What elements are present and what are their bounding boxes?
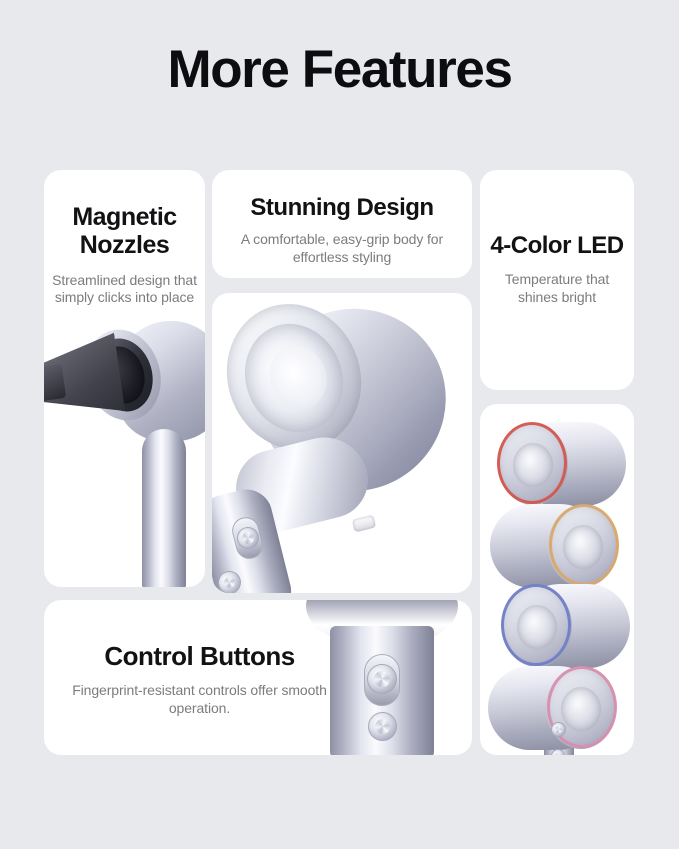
hair-dryer-hero-image (212, 293, 472, 593)
stunning-design-subtitle: A comfortable, easy-grip body for effort… (212, 221, 472, 267)
magnetic-nozzles-title: Magnetic Nozzles (44, 170, 205, 260)
led-color-stack-image (480, 404, 634, 755)
led-unit-red (498, 422, 626, 506)
magnetic-nozzle-product-image (44, 305, 205, 587)
dryer-handle-shape (142, 429, 186, 587)
power-button-icon (367, 664, 397, 694)
led-ring-blue (501, 584, 571, 666)
led-unit-pink (488, 666, 616, 750)
four-color-led-title: 4-Color LED (480, 170, 634, 259)
card-four-color-led-text: 4-Color LED Temperature that shines brig… (480, 170, 634, 390)
led-ring-red (497, 422, 567, 504)
led-unit-amber (490, 504, 618, 588)
stunning-design-title: Stunning Design (212, 170, 472, 221)
card-stunning-design-text: Stunning Design A comfortable, easy-grip… (212, 170, 472, 278)
four-color-led-subtitle: Temperature that shines bright (480, 259, 634, 307)
product-feature-page: More Features Magnetic Nozzles Streamlin… (0, 0, 679, 849)
card-four-color-led-image (480, 404, 634, 755)
led-unit-blue (502, 584, 630, 668)
control-buttons-title: Control Buttons (62, 642, 337, 671)
brand-logo-mark (352, 515, 376, 533)
card-stunning-design-image (212, 293, 472, 593)
page-title: More Features (0, 41, 679, 99)
led-ring-amber (549, 504, 619, 586)
card-magnetic-nozzles-text: Magnetic Nozzles Streamlined design that… (44, 170, 205, 305)
heat-button-icon (368, 712, 397, 741)
power-button-icon (551, 722, 566, 737)
card-magnetic-nozzles-image (44, 305, 205, 587)
card-control-buttons: Control Buttons Fingerprint-resistant co… (44, 600, 472, 755)
magnetic-nozzles-subtitle: Streamlined design that simply clicks in… (44, 260, 205, 306)
control-buttons-subtitle: Fingerprint-resistant controls offer smo… (62, 671, 337, 718)
